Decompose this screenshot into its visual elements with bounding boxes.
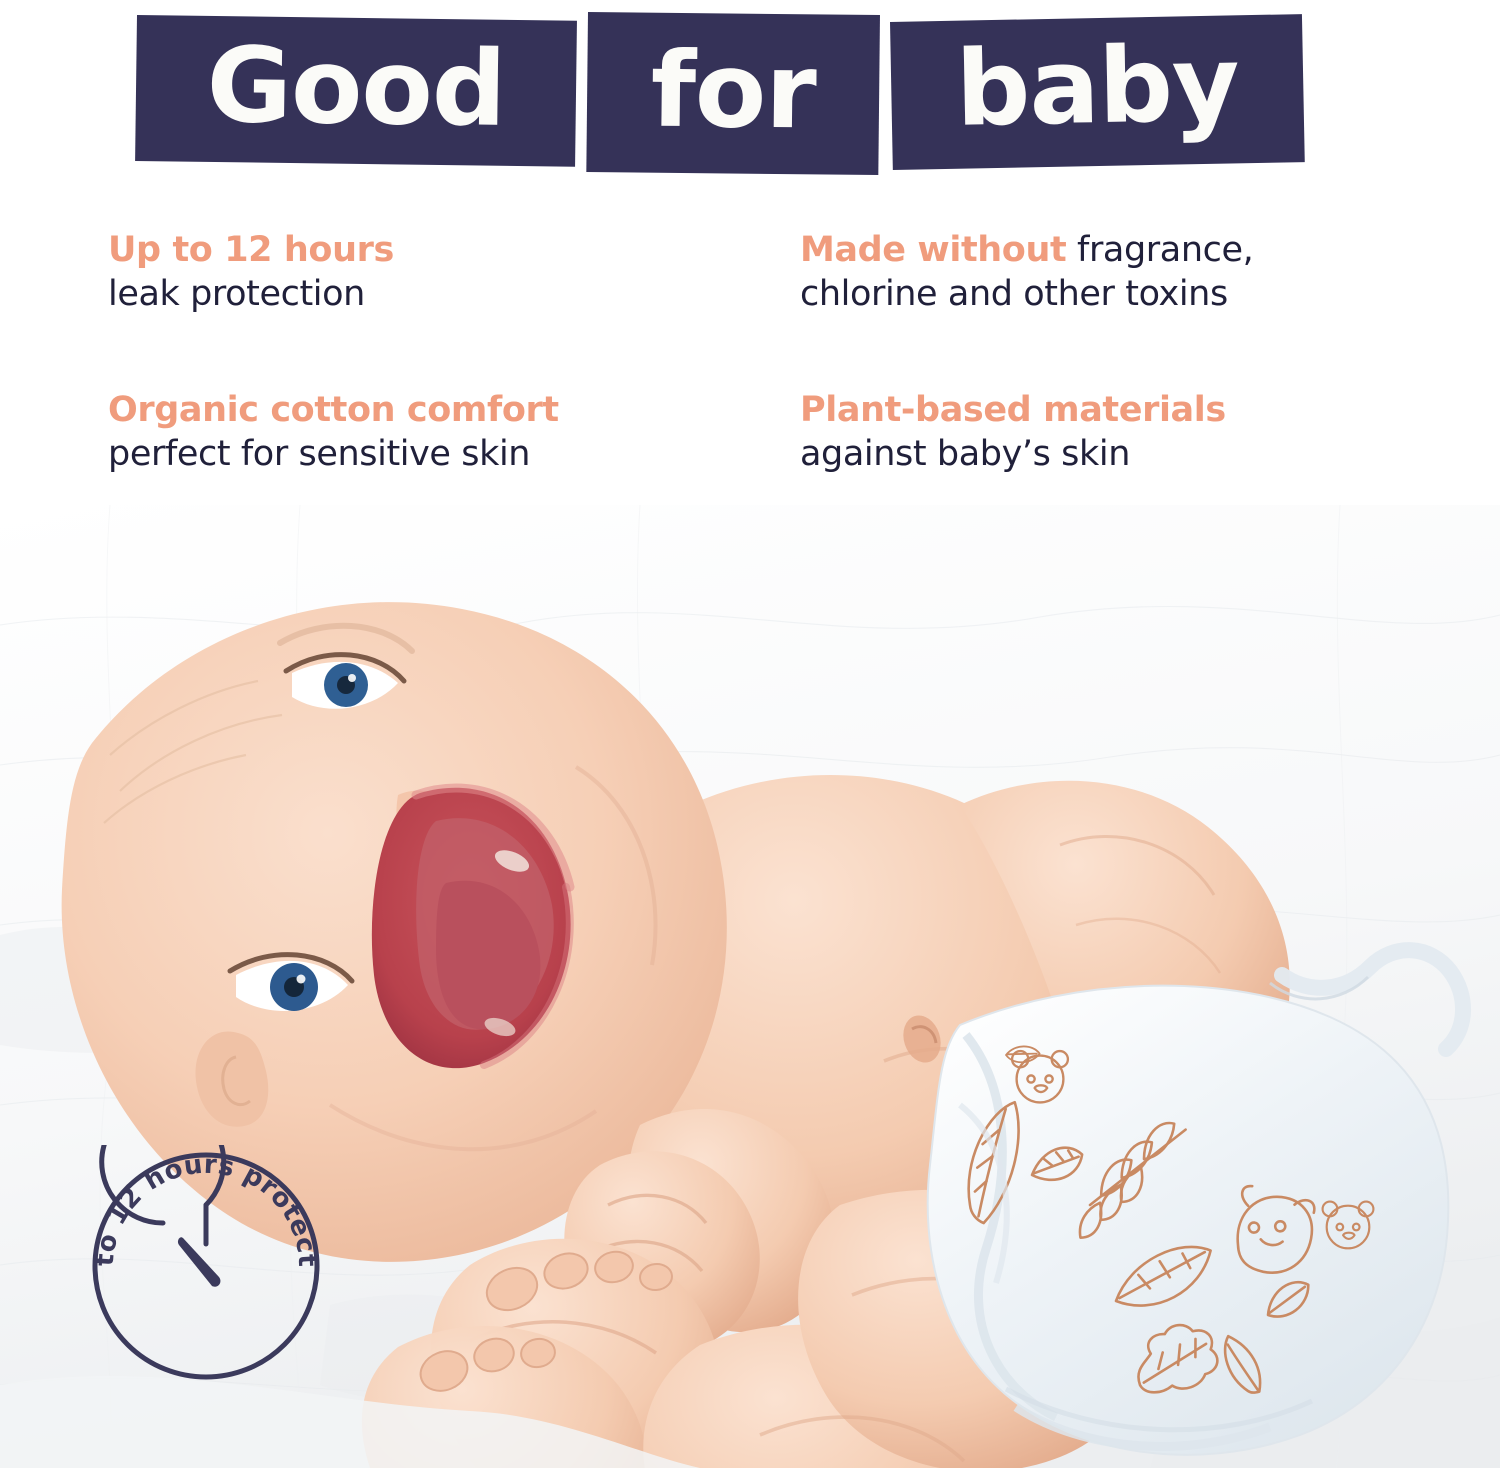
- headline-box-baby: baby: [890, 14, 1305, 170]
- badge-icon: up to 12 hours protection: [85, 1145, 327, 1387]
- feature-list: Up to 12 hours leak protection Made with…: [0, 214, 1500, 504]
- feature-headline: Made without fragrance,: [800, 228, 1400, 272]
- headline-box-good: Good: [135, 15, 577, 167]
- clock-hand: [178, 1237, 221, 1287]
- feature-strong-text: Plant-based materials: [800, 390, 1226, 430]
- protection-badge: up to 12 hours protection: [85, 1145, 327, 1387]
- feature-headline: Organic cotton comfort: [108, 388, 728, 432]
- feature-subtext: leak protection: [108, 272, 728, 316]
- feature-item-organic-cotton: Organic cotton comfort perfect for sensi…: [108, 388, 728, 476]
- feature-strong-text: Up to 12 hours: [108, 230, 394, 270]
- feature-item-leak-protection: Up to 12 hours leak protection: [108, 228, 728, 316]
- feature-strong-text: Organic cotton comfort: [108, 390, 559, 430]
- headline-word-baby: baby: [955, 31, 1240, 140]
- headline-box-for: for: [586, 12, 880, 175]
- feature-subtext: perfect for sensitive skin: [108, 432, 728, 476]
- feature-subtext: chlorine and other toxins: [800, 272, 1400, 316]
- feature-headline: Up to 12 hours: [108, 228, 728, 272]
- feature-item-plant-based: Plant-based materials against baby’s ski…: [800, 388, 1400, 476]
- feature-rest-text: fragrance,: [1066, 230, 1253, 270]
- feature-headline: Plant-based materials: [800, 388, 1400, 432]
- headline-banner: Good for baby: [0, 0, 1500, 200]
- feature-strong-text: Made without: [800, 230, 1066, 270]
- headline-word-good: Good: [206, 33, 506, 141]
- feature-item-made-without: Made without fragrance, chlorine and oth…: [800, 228, 1400, 316]
- headline-word-for: for: [650, 38, 816, 144]
- feature-subtext: against baby’s skin: [800, 432, 1400, 476]
- product-feature-panel: Good for baby Up to 12 hours leak protec…: [0, 0, 1500, 1468]
